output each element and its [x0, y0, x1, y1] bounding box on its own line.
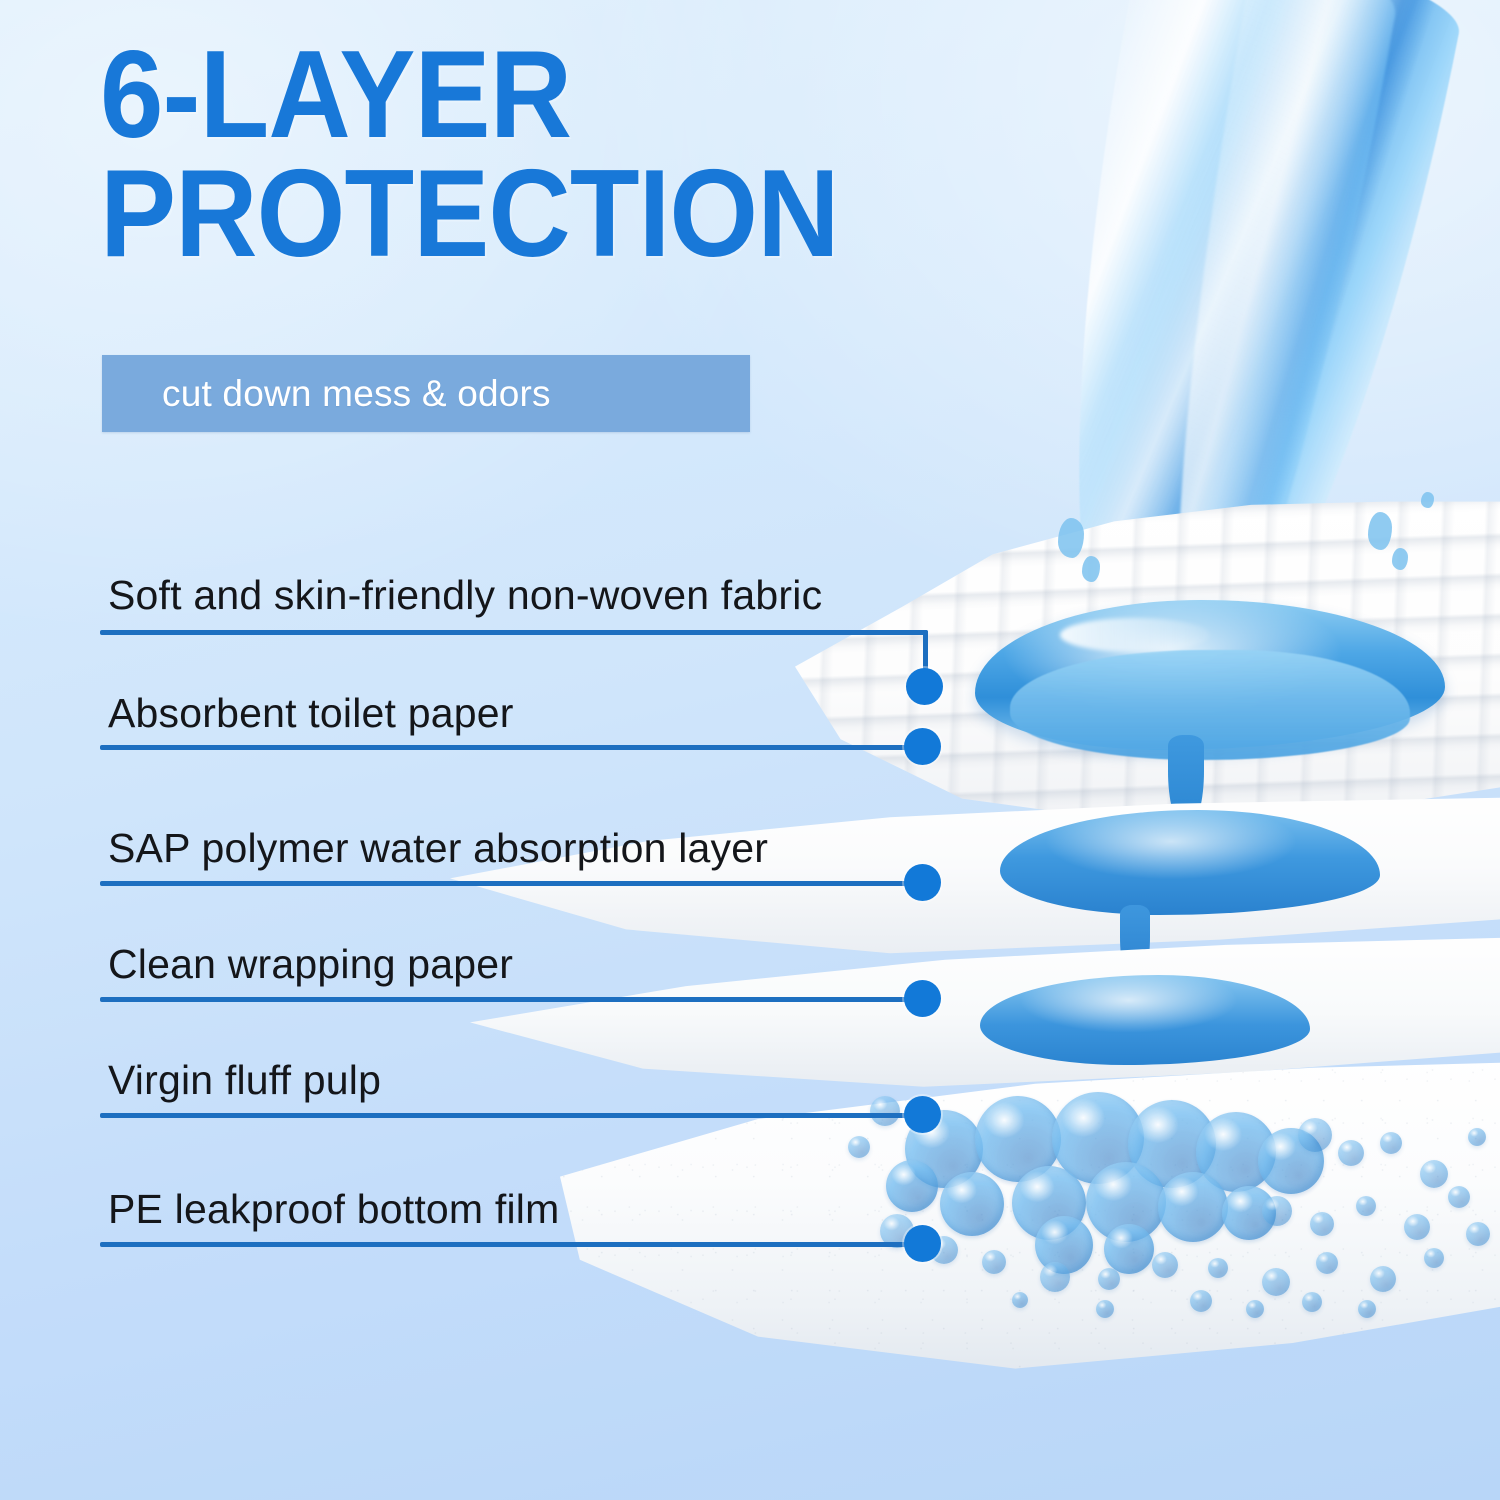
- callout-label-6: PE leakproof bottom film: [108, 1186, 559, 1233]
- callout-dot-4: [904, 980, 941, 1017]
- callout-dot-1: [906, 668, 943, 705]
- callout-label-5: Virgin fluff pulp: [108, 1057, 381, 1104]
- sap-bead-icon: [1104, 1224, 1154, 1274]
- sap-bead-icon: [1302, 1292, 1322, 1312]
- water-highlight-icon: [1060, 618, 1210, 652]
- callout-dot-2: [904, 728, 941, 765]
- sap-bead-icon: [1370, 1266, 1396, 1292]
- sap-bead-icon: [1012, 1292, 1028, 1308]
- sap-bead-icon: [1246, 1300, 1264, 1318]
- sap-bead-icon: [848, 1136, 870, 1158]
- sap-bead-icon: [1208, 1258, 1228, 1278]
- callout-label-1: Soft and skin-friendly non-woven fabric: [108, 572, 822, 619]
- page-title: 6-LAYER PROTECTION: [100, 36, 928, 274]
- sap-bead-icon: [1448, 1186, 1470, 1208]
- sap-bead-icon: [1098, 1268, 1120, 1290]
- sap-bead-icon: [870, 1096, 900, 1126]
- sap-bead-icon: [1158, 1172, 1228, 1242]
- callout-line-3: [100, 881, 912, 886]
- sap-bead-icon: [1358, 1300, 1376, 1318]
- sap-bead-icon: [1316, 1252, 1338, 1274]
- sap-bead-icon: [1380, 1132, 1402, 1154]
- sap-bead-icon: [1404, 1214, 1430, 1240]
- sap-bead-icon: [1096, 1300, 1114, 1318]
- callout-label-3: SAP polymer water absorption layer: [108, 825, 768, 872]
- callout-label-4: Clean wrapping paper: [108, 941, 513, 988]
- sap-bead-icon: [1338, 1140, 1364, 1166]
- sap-bead-icon: [1262, 1268, 1290, 1296]
- sap-bead-icon: [1466, 1222, 1490, 1246]
- sap-bead-icon: [886, 1160, 938, 1212]
- sap-bead-icon: [1420, 1160, 1448, 1188]
- subtitle-text: cut down mess & odors: [102, 373, 551, 415]
- sap-bead-icon: [1190, 1290, 1212, 1312]
- callout-dot-3: [904, 864, 941, 901]
- sap-bead-icon: [982, 1250, 1006, 1274]
- callout-line-5: [100, 1113, 912, 1118]
- sap-bead-icon: [1310, 1212, 1334, 1236]
- sap-bead-icon: [1468, 1128, 1486, 1146]
- sap-bead-icon: [1040, 1262, 1070, 1292]
- callout-line-4: [100, 997, 912, 1002]
- callout-dot-5: [904, 1096, 941, 1133]
- sap-bead-icon: [1356, 1196, 1376, 1216]
- callout-line-6: [100, 1242, 912, 1247]
- callout-dot-6: [904, 1225, 941, 1262]
- sap-bead-icon: [1152, 1252, 1178, 1278]
- callout-label-2: Absorbent toilet paper: [108, 690, 514, 737]
- sap-bead-icon: [1298, 1118, 1332, 1152]
- sap-bead-icon: [940, 1172, 1004, 1236]
- subtitle-banner: cut down mess & odors: [102, 355, 750, 432]
- callout-line-1: [100, 630, 928, 635]
- callout-line-2: [100, 745, 912, 750]
- infographic-canvas: 6-LAYER PROTECTION cut down mess & odors…: [0, 0, 1500, 1500]
- sap-bead-icon: [1262, 1196, 1292, 1226]
- water-pool-top-inner-icon: [1010, 650, 1410, 760]
- sap-bead-icon: [1424, 1248, 1444, 1268]
